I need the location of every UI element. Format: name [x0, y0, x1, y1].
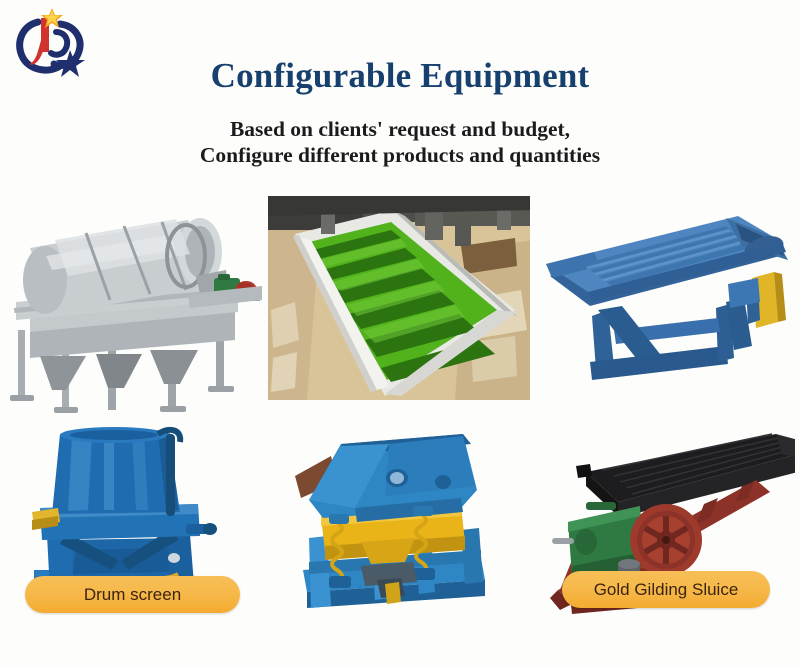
equipment-poster: Configurable Equipment Based on clients'…: [0, 0, 800, 669]
product-card-drum-screen[interactable]: Drum screen: [0, 190, 265, 420]
page-title: Configurable Equipment: [0, 56, 800, 96]
product-card-pulsating-sluice-box[interactable]: Pulsating sluice box: [530, 190, 795, 420]
trommel-drum-screen-illustration: [0, 190, 265, 420]
product-label-drum-screen[interactable]: Drum screen: [25, 576, 240, 613]
product-label-gold-gilding-sluice[interactable]: Gold Gilding Sluice: [562, 571, 770, 608]
green-sluice-photo-illustration: [265, 190, 530, 420]
subtitle-line-1: Based on clients' request and budget,: [0, 116, 800, 142]
product-card-jigger[interactable]: Jigger: [265, 420, 530, 620]
subtitle-line-2: Configure different products and quantit…: [0, 142, 800, 168]
blue-jigger-illustration: [265, 420, 530, 620]
product-card-gold-gilding-sluice[interactable]: Gold Gilding Sluice: [265, 190, 530, 420]
page-subtitle: Based on clients' request and budget, Co…: [0, 116, 800, 168]
blue-pulsating-sluice-box-illustration: [530, 190, 795, 420]
